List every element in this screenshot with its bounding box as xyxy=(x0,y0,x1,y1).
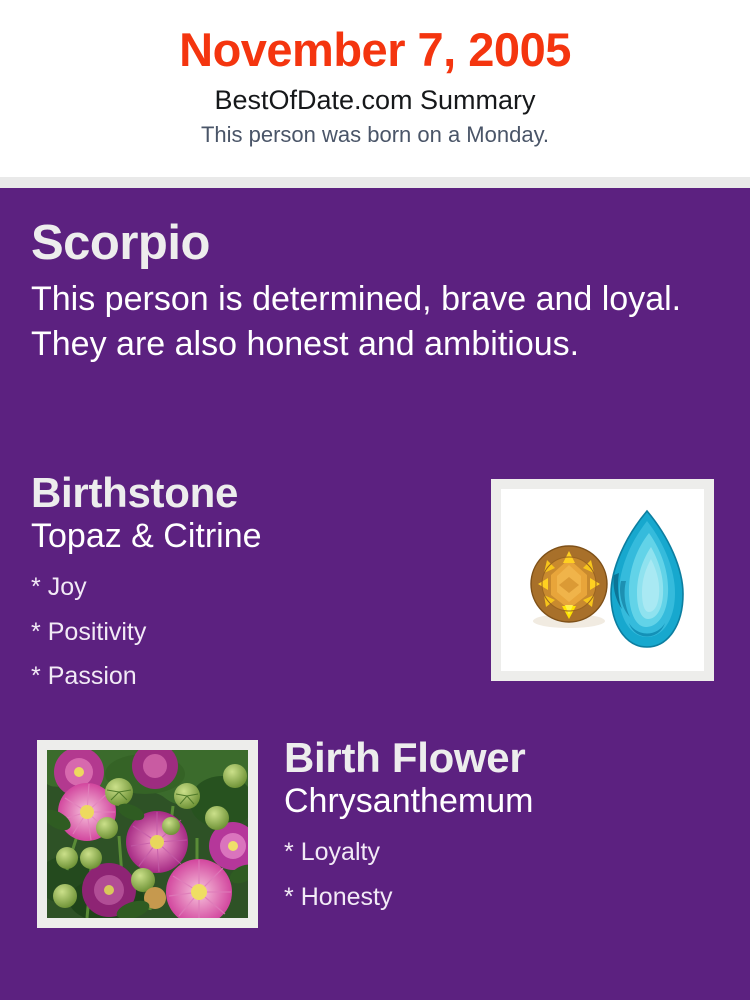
flower-bud xyxy=(205,806,229,830)
zodiac-description: This person is determined, brave and loy… xyxy=(31,270,691,367)
flower-bud xyxy=(80,847,102,869)
summary-card: November 7, 2005 BestOfDate.com Summary … xyxy=(0,0,750,1000)
flower-bud xyxy=(96,817,118,839)
chrysanthemum-bloom xyxy=(126,811,188,873)
birth-flower-heading: Birth Flower xyxy=(284,736,724,780)
list-item: *Honesty xyxy=(284,875,724,920)
birthstone-image xyxy=(501,489,704,671)
zodiac-sign-name: Scorpio xyxy=(31,217,701,270)
bullet-star-icon: * xyxy=(31,565,48,610)
list-item: *Passion xyxy=(31,654,471,699)
birthstone-heading: Birthstone xyxy=(31,471,471,515)
brand-subtitle: BestOfDate.com Summary xyxy=(0,76,750,116)
flower-bud xyxy=(223,764,247,788)
bullet-star-icon: * xyxy=(31,610,48,655)
birthstone-name: Topaz & Citrine xyxy=(31,515,471,556)
birthstone-trait-list: *Joy *Positivity *Passion xyxy=(31,556,471,699)
birthstone-image-frame xyxy=(491,479,714,681)
birth-day-note: This person was born on a Monday. xyxy=(0,116,750,147)
birth-flower-trait-label: Honesty xyxy=(301,883,393,911)
bullet-star-icon: * xyxy=(284,830,301,875)
bullet-star-icon: * xyxy=(31,654,48,699)
bullet-star-icon: * xyxy=(284,875,301,920)
birthstone-trait-label: Passion xyxy=(48,662,137,690)
flower-bud xyxy=(174,783,200,809)
flower-bud xyxy=(162,817,180,835)
birth-flower-section: Birth Flower Chrysanthemum *Loyalty *Hon… xyxy=(284,736,724,919)
flower-bud xyxy=(53,884,77,908)
zodiac-section: Scorpio This person is determined, brave… xyxy=(31,217,701,367)
list-item: *Loyalty xyxy=(284,830,724,875)
birth-flower-trait-list: *Loyalty *Honesty xyxy=(284,821,724,919)
header: November 7, 2005 BestOfDate.com Summary … xyxy=(0,0,750,177)
list-item: *Joy xyxy=(31,565,471,610)
birth-flower-trait-label: Loyalty xyxy=(301,838,380,866)
gemstones-illustration xyxy=(501,489,704,671)
birthstone-trait-label: Positivity xyxy=(48,618,147,646)
list-item: *Positivity xyxy=(31,610,471,655)
flower-bud xyxy=(56,847,78,869)
header-divider xyxy=(0,177,750,188)
flower-bud xyxy=(105,778,133,806)
birthstone-trait-label: Joy xyxy=(48,573,87,601)
birthstone-section: Birthstone Topaz & Citrine *Joy *Positiv… xyxy=(31,471,471,699)
birth-flower-name: Chrysanthemum xyxy=(284,780,724,821)
birth-flower-image xyxy=(47,750,248,918)
main-panel: Scorpio This person is determined, brave… xyxy=(0,188,750,1000)
page-title-date: November 7, 2005 xyxy=(0,0,750,76)
birth-flower-image-frame xyxy=(37,740,258,928)
chrysanthemums-illustration xyxy=(47,750,248,918)
citrine-stone xyxy=(531,546,607,622)
